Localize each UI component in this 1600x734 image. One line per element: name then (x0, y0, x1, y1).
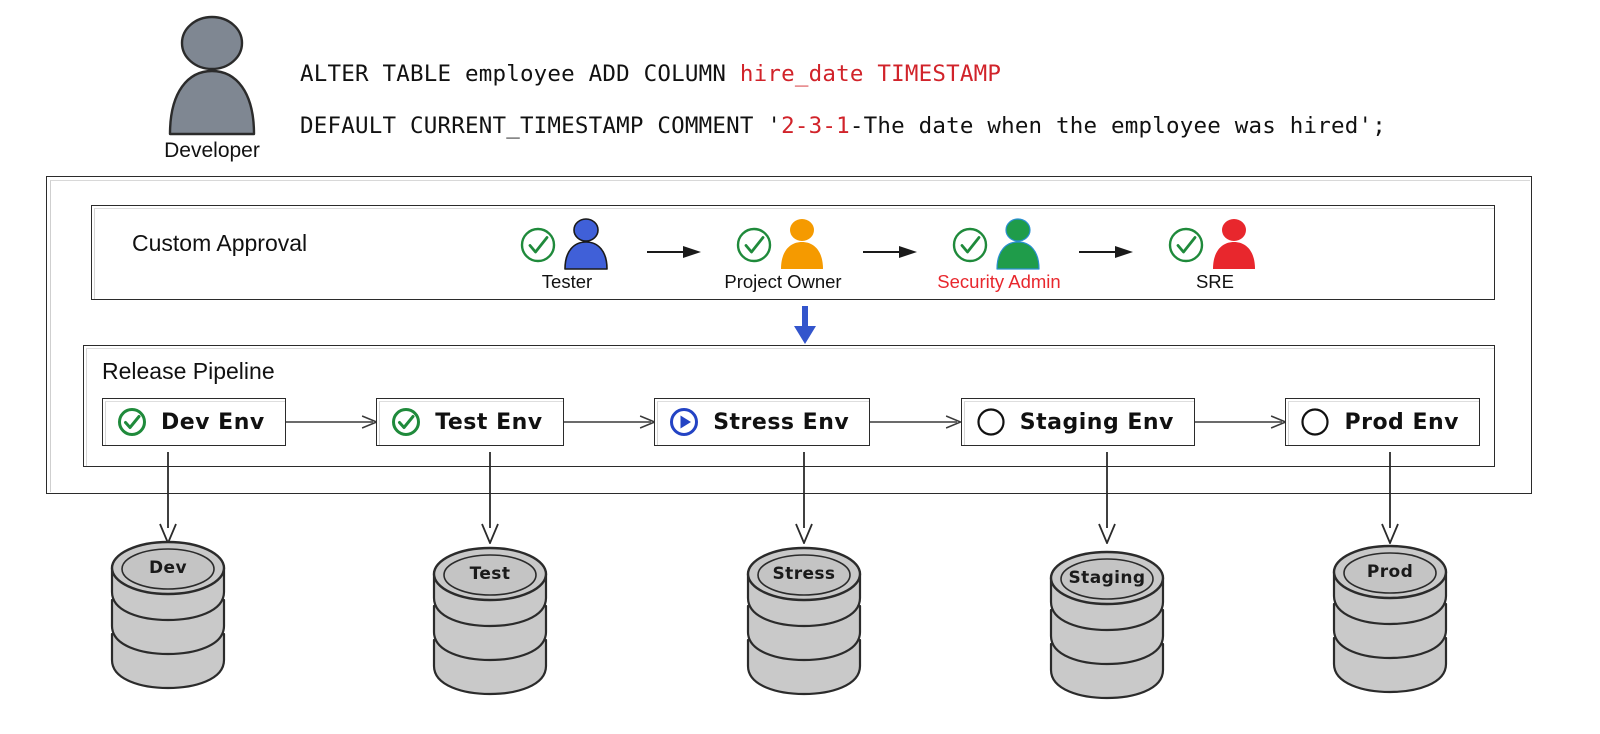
sql-line2-prefix: DEFAULT CURRENT_TIMESTAMP COMMENT ' (300, 113, 781, 139)
approver-sre[interactable]: SRE (1140, 218, 1290, 293)
stage-connector (870, 412, 961, 432)
approver-label: Project Owner (708, 271, 858, 293)
person-icon (993, 218, 1043, 270)
check-circle-icon (117, 407, 147, 437)
arrow-right-icon (1077, 244, 1137, 260)
database-cylinder-icon (1027, 540, 1187, 700)
approval-flow-arrow (1074, 244, 1140, 260)
sql-line2-highlight: 2-3-1 (781, 113, 850, 139)
sql-line1-highlight: hire_date TIMESTAMP (740, 61, 1001, 87)
approver-label: Tester (492, 271, 642, 293)
pipeline-stage-test-env[interactable]: Test Env (376, 398, 563, 446)
custom-approval-panel: Custom Approval Tester (91, 205, 1495, 300)
pipeline-stage-row: Dev Env Test Env (102, 394, 1480, 450)
empty-circle-icon (976, 407, 1006, 437)
sql-line-2: DEFAULT CURRENT_TIMESTAMP COMMENT '2-3-1… (300, 100, 1520, 152)
empty-circle-icon (1300, 407, 1330, 437)
sql-line1-prefix: ALTER TABLE employee ADD COLUMN (300, 61, 740, 87)
check-circle-icon (391, 407, 421, 437)
stage-connector (564, 412, 655, 432)
person-icon (777, 218, 827, 270)
approval-flow-arrow (642, 244, 708, 260)
person-icon (1209, 218, 1259, 270)
database-dev[interactable]: Dev (88, 530, 248, 690)
approver-row: Tester P (492, 218, 1472, 298)
check-circle-icon (735, 226, 773, 264)
stage-label: Test Env (427, 410, 548, 435)
approval-flow-arrow (858, 244, 924, 260)
stage-label: Dev Env (153, 410, 271, 435)
arrow-right-icon (861, 244, 921, 260)
play-circle-icon (669, 407, 699, 437)
check-circle-icon (1167, 226, 1205, 264)
database-cylinder-icon (88, 530, 248, 690)
arrow-right-icon (870, 414, 961, 430)
pipeline-stage-prod-env[interactable]: Prod Env (1285, 398, 1480, 446)
approver-label: SRE (1140, 271, 1290, 293)
pipeline-container: Custom Approval Tester (46, 176, 1532, 494)
user-silhouette-icon (158, 14, 266, 136)
approver-security-admin[interactable]: Security Admin (924, 218, 1074, 293)
approval-to-pipeline-arrow-icon (787, 305, 823, 345)
stage-to-database-arrow-icon (1377, 452, 1403, 544)
arrow-right-icon (286, 414, 377, 430)
release-pipeline-title: Release Pipeline (102, 358, 275, 385)
person-icon (561, 218, 611, 270)
database-stress[interactable]: Stress (724, 536, 884, 696)
sql-statement: ALTER TABLE employee ADD COLUMN hire_dat… (300, 48, 1520, 152)
database-cylinder-icon (410, 536, 570, 696)
database-cylinder-icon (1310, 534, 1470, 694)
sql-line2-suffix: -The date when the employee was hired'; (850, 113, 1386, 139)
check-circle-icon (951, 226, 989, 264)
stage-to-database-arrow-icon (791, 452, 817, 544)
pipeline-stage-staging-env[interactable]: Staging Env (961, 398, 1195, 446)
database-test[interactable]: Test (410, 536, 570, 696)
arrow-right-icon (564, 414, 655, 430)
approver-project-owner[interactable]: Project Owner (708, 218, 858, 293)
approver-label: Security Admin (924, 271, 1074, 293)
stage-label: Stress Env (705, 410, 855, 435)
developer-label: Developer (148, 138, 276, 164)
stage-connector (1195, 412, 1286, 432)
stage-to-database-arrow-icon (1094, 452, 1120, 544)
developer-actor: Developer (148, 14, 276, 164)
stage-connector (286, 412, 377, 432)
arrow-right-icon (1195, 414, 1286, 430)
approver-tester[interactable]: Tester (492, 218, 642, 293)
pipeline-stage-stress-env[interactable]: Stress Env (654, 398, 870, 446)
database-staging[interactable]: Staging (1027, 540, 1187, 700)
arrow-right-icon (645, 244, 705, 260)
database-cylinder-icon (724, 536, 884, 696)
custom-approval-title: Custom Approval (132, 230, 307, 257)
database-prod[interactable]: Prod (1310, 534, 1470, 694)
stage-label: Prod Env (1336, 410, 1465, 435)
stage-label: Staging Env (1012, 410, 1180, 435)
sql-line-1: ALTER TABLE employee ADD COLUMN hire_dat… (300, 48, 1520, 100)
stage-to-database-arrow-icon (477, 452, 503, 544)
check-circle-icon (519, 226, 557, 264)
pipeline-stage-dev-env[interactable]: Dev Env (102, 398, 286, 446)
release-pipeline-panel: Release Pipeline Dev Env (83, 345, 1495, 467)
